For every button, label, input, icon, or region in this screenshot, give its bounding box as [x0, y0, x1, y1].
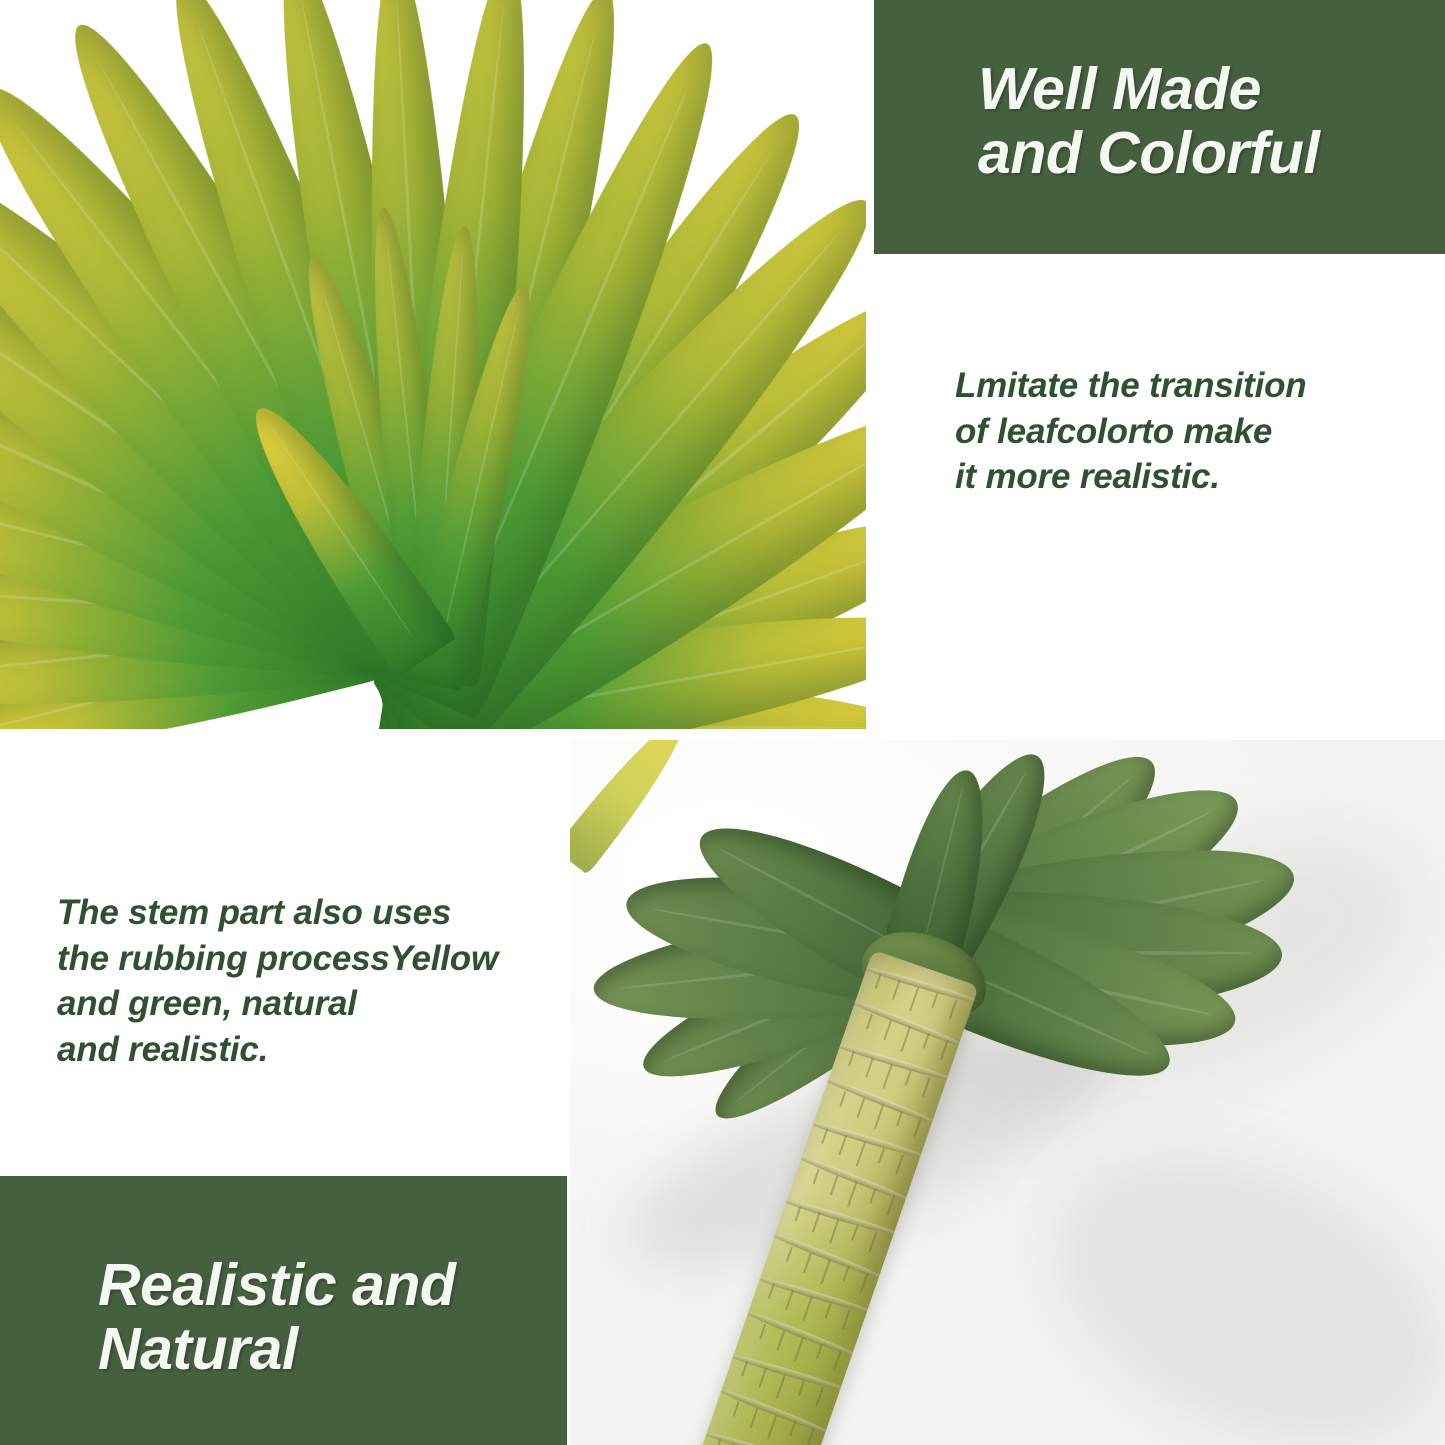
stem-hatch: [901, 1027, 911, 1052]
stem-hatch: [892, 980, 901, 1001]
stem-hatch: [856, 1141, 866, 1166]
stem-hatch: [869, 1188, 876, 1204]
stem-hatch: [882, 1064, 892, 1089]
shadow-leaves: [1004, 1091, 1445, 1445]
stem-hatch: [821, 1128, 828, 1144]
stem-hatch: [923, 1033, 930, 1049]
stem-ring: [819, 1074, 942, 1128]
stem-hatch: [896, 1111, 903, 1127]
photo-stem-detail: [570, 740, 1445, 1445]
stem-hatch: [848, 1051, 855, 1067]
stem-hatch: [887, 1195, 896, 1216]
stem-hatch: [874, 1104, 884, 1129]
stem-hatch: [940, 1040, 949, 1061]
caption-leaf-color-transition: Lmitate the transition of leafcolorto ma…: [955, 363, 1415, 500]
stem-hatch: [866, 1014, 873, 1030]
stem-hatch: [838, 1135, 847, 1156]
caption-stem-rubbing-process: The stem part also uses the rubbing proc…: [57, 890, 577, 1072]
stem-hatch: [895, 1154, 904, 1175]
stem-hatch: [839, 1091, 846, 1107]
stem-hatch: [878, 1148, 885, 1164]
heading-realistic-and-natural: Realistic and Natural: [98, 1254, 455, 1381]
stem-hatch: [875, 973, 882, 989]
stem-hatch: [865, 1057, 874, 1078]
panel-well-made-and-colorful: Well Made and Colorful: [874, 0, 1445, 254]
heading-well-made-and-colorful: Well Made and Colorful: [978, 58, 1319, 185]
infographic-canvas: Well Made and Colorful Lmitate the trans…: [0, 0, 1445, 1445]
stem-ring: [845, 996, 968, 1050]
photo-agave-rosette: [0, 0, 866, 729]
stem-hatch: [922, 1077, 931, 1098]
stem-hatch: [883, 1020, 892, 1041]
stem-hatch: [913, 1117, 922, 1138]
stem-hatch: [949, 999, 958, 1020]
stem-hatch: [909, 986, 919, 1011]
stem-hatch: [931, 993, 938, 1009]
stem-hatch: [905, 1070, 912, 1086]
stem-hatch: [813, 1169, 820, 1185]
stem-hatch: [830, 1175, 839, 1196]
stem-hatch: [857, 1098, 866, 1119]
panel-realistic-and-natural: Realistic and Natural: [0, 1176, 567, 1445]
stray-yellow-leaf: [570, 740, 698, 875]
